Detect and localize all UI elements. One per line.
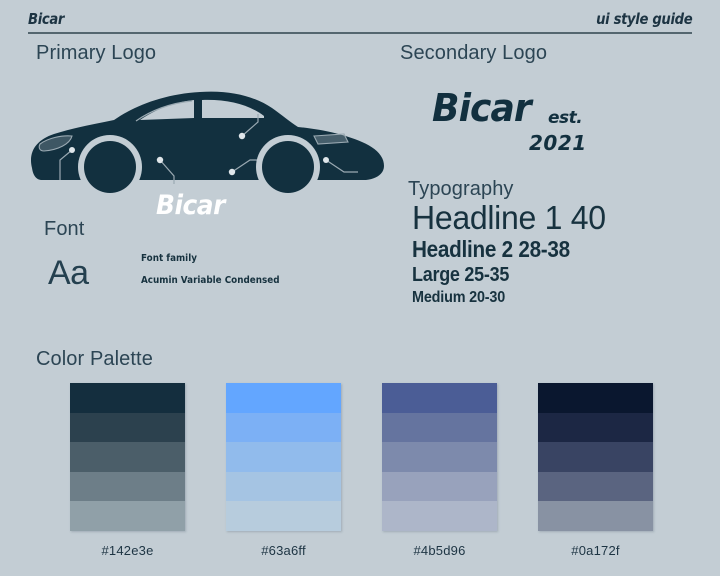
color-palette-row: #142e3e#63a6ff#4b5d96#0a172f [70, 383, 690, 568]
color-swatch-step[interactable] [226, 442, 341, 472]
color-swatch-column[interactable]: #4b5d96 [382, 383, 497, 568]
type-sample-large: Large 25-35 [412, 263, 673, 287]
color-swatch-step[interactable] [70, 383, 185, 413]
section-title-color-palette: Color Palette [36, 348, 153, 371]
color-swatch-column[interactable]: #142e3e [70, 383, 185, 568]
primary-logo-wordmark: Bicar [156, 190, 225, 221]
color-swatch-step[interactable] [382, 442, 497, 472]
color-swatch-step[interactable] [538, 383, 653, 413]
secondary-logo-wordmark: Bicar [432, 86, 531, 130]
secondary-logo: Bicar est. 2021 [432, 86, 632, 166]
typography-scale: Headline 1 40 Headline 2 28-38 Large 25-… [412, 200, 702, 308]
type-sample-headline-2: Headline 2 28-38 [412, 236, 673, 263]
page-header: Bicar ui style guide [28, 6, 692, 36]
color-swatch-step[interactable] [70, 501, 185, 531]
color-swatch-hex-label: #63a6ff [226, 543, 341, 558]
color-swatch-step[interactable] [70, 413, 185, 443]
color-swatch-step[interactable] [226, 383, 341, 413]
font-specimen-block: Aa Font family Acumin Variable Condensed [48, 250, 348, 310]
color-swatch-column[interactable]: #63a6ff [226, 383, 341, 568]
header-divider [28, 32, 692, 34]
color-swatch-step[interactable] [70, 472, 185, 502]
color-swatch-hex-label: #142e3e [70, 543, 185, 558]
type-sample-medium: Medium 20-30 [412, 287, 673, 308]
section-title-font: Font [44, 218, 84, 241]
color-swatch-stack[interactable] [538, 383, 653, 531]
color-swatch-hex-label: #4b5d96 [382, 543, 497, 558]
color-swatch-hex-label: #0a172f [538, 543, 653, 558]
color-swatch-step[interactable] [382, 383, 497, 413]
style-guide-page: Bicar ui style guide Primary Logo Second… [0, 0, 720, 576]
primary-logo-artwork: Bicar [14, 72, 389, 197]
color-swatch-step[interactable] [70, 442, 185, 472]
color-swatch-stack[interactable] [382, 383, 497, 531]
color-swatch-step[interactable] [538, 472, 653, 502]
color-swatch-step[interactable] [538, 442, 653, 472]
section-title-secondary-logo: Secondary Logo [400, 42, 547, 65]
font-family-label: Font family [141, 253, 197, 264]
color-swatch-column[interactable]: #0a172f [538, 383, 653, 568]
section-title-typography: Typography [408, 178, 514, 201]
color-swatch-step[interactable] [538, 501, 653, 531]
brand-wordmark: Bicar [28, 10, 64, 28]
color-swatch-step[interactable] [226, 413, 341, 443]
font-specimen-aa: Aa [48, 254, 89, 293]
color-swatch-stack[interactable] [226, 383, 341, 531]
secondary-logo-est: est. [548, 108, 582, 128]
secondary-logo-year: 2021 [529, 131, 587, 155]
color-swatch-step[interactable] [382, 472, 497, 502]
sports-car-icon [14, 72, 389, 197]
section-title-primary-logo: Primary Logo [36, 42, 156, 65]
font-family-value: Acumin Variable Condensed [141, 275, 280, 286]
color-swatch-step[interactable] [382, 501, 497, 531]
color-swatch-step[interactable] [226, 472, 341, 502]
color-swatch-step[interactable] [538, 413, 653, 443]
guide-title: ui style guide [596, 10, 692, 28]
color-swatch-step[interactable] [382, 413, 497, 443]
header-row: Bicar ui style guide [28, 6, 692, 28]
type-sample-headline-1: Headline 1 40 [412, 200, 693, 236]
color-swatch-stack[interactable] [70, 383, 185, 531]
color-swatch-step[interactable] [226, 501, 341, 531]
